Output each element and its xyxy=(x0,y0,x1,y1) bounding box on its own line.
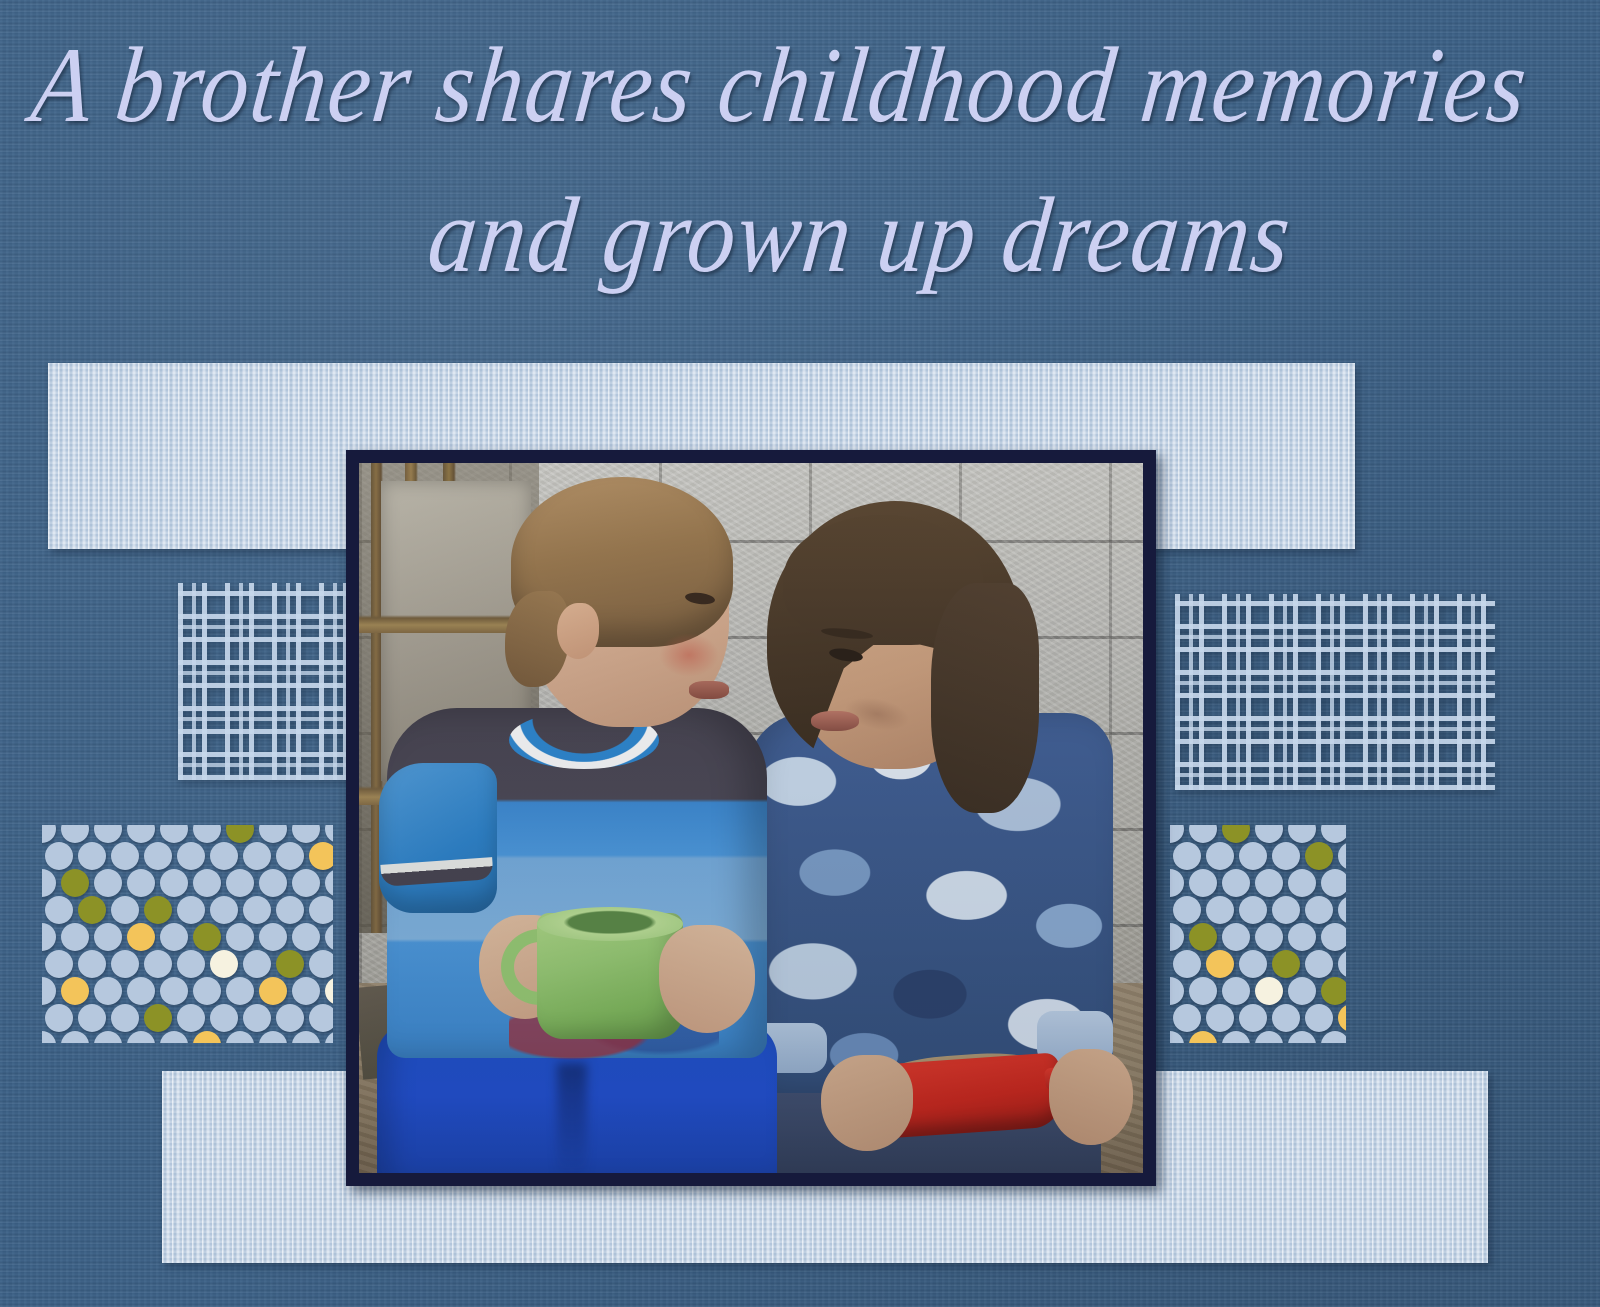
polka-dot xyxy=(226,977,254,1005)
polka-dot xyxy=(42,977,56,1005)
polka-dot xyxy=(243,950,271,978)
polka-dot xyxy=(160,1031,188,1043)
polka-dot xyxy=(1321,977,1346,1005)
polka-dot xyxy=(292,869,320,897)
polka-dot xyxy=(276,1004,304,1032)
polka-dot xyxy=(193,923,221,951)
polka-dot xyxy=(325,923,333,951)
polka-dot xyxy=(1288,825,1316,843)
polka-dot xyxy=(111,842,139,870)
polka-dot xyxy=(1305,1004,1333,1032)
polka-dot xyxy=(1305,896,1333,924)
polka-dot xyxy=(1206,1004,1234,1032)
polka-dot xyxy=(1288,977,1316,1005)
polka-dot xyxy=(1321,1031,1346,1043)
polka-dot xyxy=(226,825,254,843)
polka-dot xyxy=(243,842,271,870)
polka-dot-band-left xyxy=(42,825,333,1043)
polka-dot xyxy=(1288,869,1316,897)
polka-dot xyxy=(1222,923,1250,951)
polka-dot xyxy=(1321,869,1346,897)
polka-dot xyxy=(1189,977,1217,1005)
polka-dot xyxy=(193,869,221,897)
polka-dot xyxy=(177,896,205,924)
left-child-ear xyxy=(557,603,599,659)
polka-dot xyxy=(259,1031,287,1043)
polka-dot xyxy=(1338,950,1347,978)
scrapbook-page: A brother shares childhood memories and … xyxy=(0,0,1600,1307)
polka-dot xyxy=(1239,1004,1267,1032)
polka-dot xyxy=(42,869,56,897)
polka-dot xyxy=(210,842,238,870)
polka-dot xyxy=(127,923,155,951)
left-child-hand-right xyxy=(659,925,755,1033)
polka-dot xyxy=(1173,1004,1201,1032)
polka-dot xyxy=(144,950,172,978)
polka-dot xyxy=(144,896,172,924)
polka-dot xyxy=(45,896,73,924)
polka-dot xyxy=(243,1004,271,1032)
polka-dot xyxy=(61,1031,89,1043)
polka-dot xyxy=(1288,923,1316,951)
polka-dot xyxy=(1255,869,1283,897)
polka-dot xyxy=(259,977,287,1005)
right-child-hand-right xyxy=(1049,1049,1133,1145)
polka-dot xyxy=(78,1004,106,1032)
polka-dot xyxy=(144,1004,172,1032)
polka-dot xyxy=(111,950,139,978)
polka-dot xyxy=(1272,896,1300,924)
polka-dot xyxy=(1173,896,1201,924)
polka-dot xyxy=(276,950,304,978)
polka-dot xyxy=(1305,950,1333,978)
polka-dot xyxy=(309,896,334,924)
polka-dot xyxy=(1170,923,1184,951)
polka-dot xyxy=(1206,950,1234,978)
polka-dot xyxy=(1222,1031,1250,1043)
polka-dot xyxy=(1189,825,1217,843)
polka-dot xyxy=(177,950,205,978)
polka-dot xyxy=(1170,825,1184,843)
polka-dot xyxy=(1255,923,1283,951)
polka-dot xyxy=(292,977,320,1005)
photograph xyxy=(359,463,1143,1173)
polka-dot xyxy=(1272,950,1300,978)
polka-dot xyxy=(193,825,221,843)
polka-dot xyxy=(45,842,73,870)
polka-dot xyxy=(144,842,172,870)
polka-dot xyxy=(45,950,73,978)
green-cup-rim xyxy=(537,907,683,941)
polka-dot xyxy=(94,923,122,951)
right-child-hand-left xyxy=(821,1055,913,1151)
polka-dot xyxy=(94,869,122,897)
polka-dot xyxy=(42,1031,56,1043)
polka-dot xyxy=(193,977,221,1005)
polka-dot xyxy=(1222,869,1250,897)
polka-dot xyxy=(177,842,205,870)
polka-dot xyxy=(325,977,333,1005)
polka-dot xyxy=(1173,842,1201,870)
polka-dot xyxy=(1338,842,1347,870)
polka-dot xyxy=(1338,896,1347,924)
polka-dot xyxy=(1321,825,1346,843)
polka-dot xyxy=(1206,896,1234,924)
polka-dot xyxy=(61,825,89,843)
polka-dot xyxy=(259,923,287,951)
polka-dot xyxy=(45,1004,73,1032)
polka-dot xyxy=(111,896,139,924)
polka-dot xyxy=(127,869,155,897)
polka-dot xyxy=(1255,825,1283,843)
polka-dot xyxy=(226,923,254,951)
polka-dot xyxy=(1206,842,1234,870)
polka-dot xyxy=(61,923,89,951)
polka-dot xyxy=(1189,869,1217,897)
polka-dot xyxy=(1272,842,1300,870)
polka-dot xyxy=(1170,869,1184,897)
polka-dot xyxy=(1255,977,1283,1005)
polka-dot xyxy=(1189,1031,1217,1043)
left-child-mouth xyxy=(689,681,729,699)
polka-dot xyxy=(1255,1031,1283,1043)
plaid-band-right xyxy=(1175,594,1495,790)
polka-dot xyxy=(1288,1031,1316,1043)
polka-dot xyxy=(325,1031,333,1043)
polka-dot xyxy=(42,923,56,951)
polka-dot xyxy=(325,825,333,843)
polka-dot xyxy=(210,950,238,978)
polka-dot xyxy=(1170,977,1184,1005)
right-child-mouth xyxy=(811,711,859,731)
polka-dot xyxy=(61,869,89,897)
polka-dot xyxy=(226,1031,254,1043)
polka-dot xyxy=(193,1031,221,1043)
polka-dot-band-right xyxy=(1170,825,1346,1043)
polka-dot xyxy=(78,842,106,870)
polka-dot xyxy=(1338,1004,1347,1032)
polka-dot xyxy=(94,977,122,1005)
polka-dot xyxy=(1305,842,1333,870)
polka-dot xyxy=(42,825,56,843)
polka-dot xyxy=(210,896,238,924)
polka-dot xyxy=(160,923,188,951)
polka-dot xyxy=(1173,950,1201,978)
polka-dot xyxy=(1239,950,1267,978)
polka-dot xyxy=(160,825,188,843)
polka-dot xyxy=(243,896,271,924)
polka-dot xyxy=(292,1031,320,1043)
left-child-cheek xyxy=(659,633,719,677)
polka-dot xyxy=(127,825,155,843)
polka-dot xyxy=(160,869,188,897)
polka-dot xyxy=(259,825,287,843)
polka-dot xyxy=(210,1004,238,1032)
polka-dot xyxy=(309,842,334,870)
polka-dot xyxy=(1170,1031,1184,1043)
polka-dot xyxy=(309,950,334,978)
polka-dot xyxy=(292,923,320,951)
polka-dot xyxy=(292,825,320,843)
polka-dot xyxy=(94,1031,122,1043)
polka-dot xyxy=(127,977,155,1005)
polka-dot xyxy=(111,1004,139,1032)
polka-dot xyxy=(1239,896,1267,924)
polka-dot xyxy=(177,1004,205,1032)
polka-dot xyxy=(94,825,122,843)
polka-dot xyxy=(1222,825,1250,843)
polka-dot xyxy=(78,950,106,978)
polka-dot xyxy=(127,1031,155,1043)
photo-frame[interactable] xyxy=(346,450,1156,1186)
polka-dot xyxy=(276,842,304,870)
polka-dot xyxy=(1239,842,1267,870)
polka-dot xyxy=(325,869,333,897)
polka-dot xyxy=(160,977,188,1005)
polka-dot xyxy=(276,896,304,924)
right-child-side-hair xyxy=(931,583,1039,813)
polka-dot xyxy=(259,869,287,897)
polka-dot xyxy=(1272,1004,1300,1032)
polka-dot xyxy=(1321,923,1346,951)
polka-dot xyxy=(61,977,89,1005)
polka-dot xyxy=(78,896,106,924)
polka-dot xyxy=(1189,923,1217,951)
polka-dot xyxy=(226,869,254,897)
polka-dot xyxy=(309,1004,334,1032)
left-child-sleeve xyxy=(379,763,497,913)
polka-dot xyxy=(1222,977,1250,1005)
